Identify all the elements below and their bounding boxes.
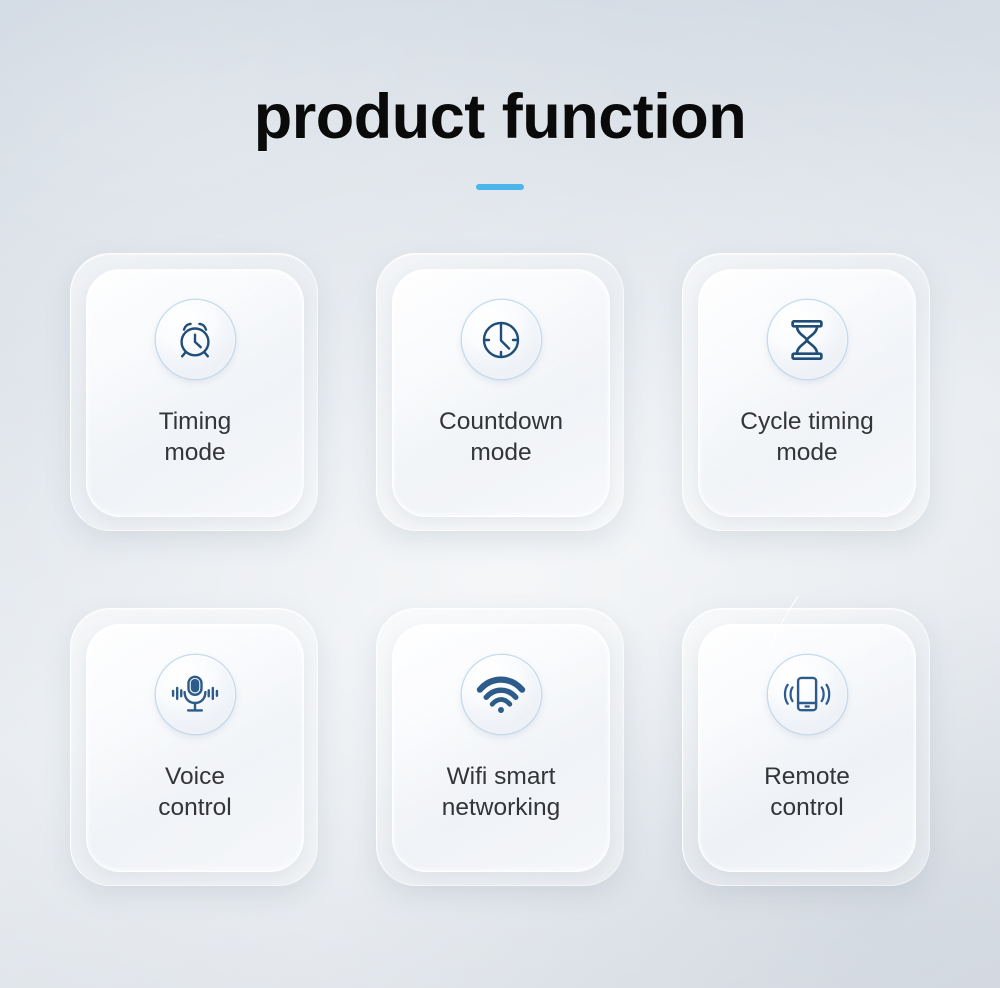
- feature-card-grid: Timing mode: [70, 253, 930, 886]
- icon-badge: [156, 655, 235, 734]
- card-label: Remote control: [707, 761, 907, 824]
- product-function-page: product function: [0, 0, 1000, 988]
- icon-badge: [768, 300, 847, 379]
- card-inner-panel: Remote control: [698, 624, 916, 872]
- card-inner-panel: Timing mode: [86, 269, 304, 517]
- page-header: product function: [0, 0, 1000, 190]
- icon-badge: [768, 655, 847, 734]
- feature-card-wifi-smart-networking[interactable]: Wifi smart networking: [376, 608, 624, 886]
- microphone-waves-icon: [169, 672, 221, 718]
- card-label: Countdown mode: [401, 406, 601, 469]
- title-accent-bar: [476, 184, 524, 190]
- hourglass-icon: [786, 317, 828, 363]
- clock-icon: [477, 316, 525, 364]
- feature-card-countdown-mode[interactable]: Countdown mode: [376, 253, 624, 531]
- card-label: Cycle timing mode: [707, 406, 907, 469]
- card-label: Wifi smart networking: [401, 761, 601, 824]
- card-inner-panel: Cycle timing mode: [698, 269, 916, 517]
- card-inner-panel: Countdown mode: [392, 269, 610, 517]
- icon-badge: [156, 300, 235, 379]
- feature-card-cycle-timing-mode[interactable]: Cycle timing mode: [682, 253, 930, 531]
- feature-card-voice-control[interactable]: Voice control: [70, 608, 318, 886]
- card-inner-panel: Wifi smart networking: [392, 624, 610, 872]
- card-label: Voice control: [95, 761, 295, 824]
- phone-vibrate-icon: [781, 672, 833, 718]
- wifi-icon: [476, 674, 526, 716]
- alarm-clock-icon: [172, 317, 218, 363]
- feature-card-remote-control[interactable]: Remote control: [682, 608, 930, 886]
- feature-card-timing-mode[interactable]: Timing mode: [70, 253, 318, 531]
- icon-badge: [462, 300, 541, 379]
- page-title: product function: [0, 86, 1000, 149]
- icon-badge: [462, 655, 541, 734]
- card-label: Timing mode: [95, 406, 295, 469]
- card-inner-panel: Voice control: [86, 624, 304, 872]
